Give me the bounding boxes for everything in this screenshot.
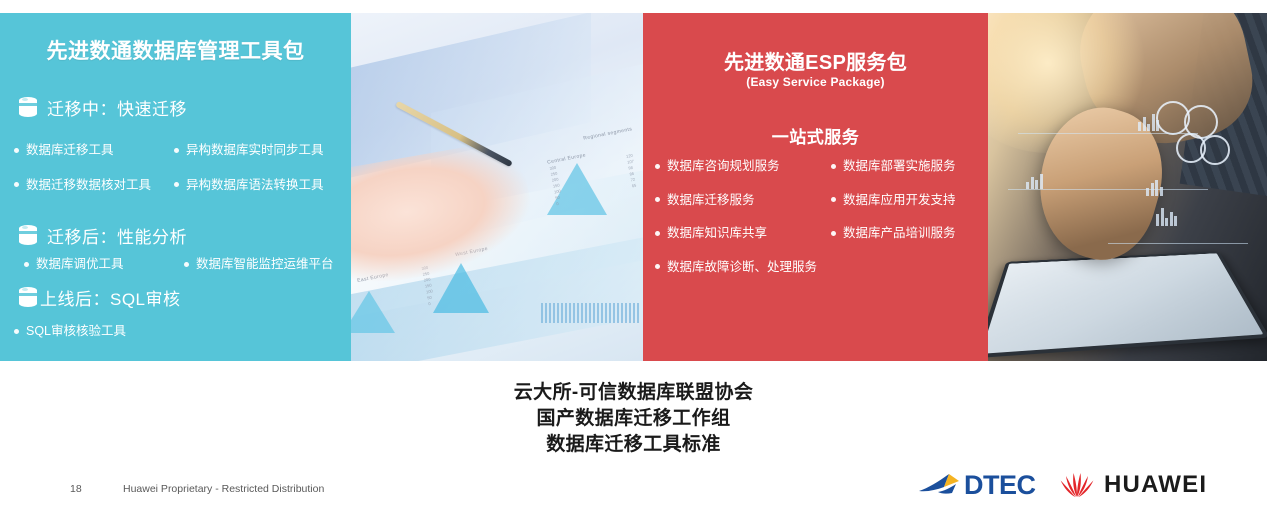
list-item-label: 数据库调优工具 (36, 258, 124, 271)
list-item-label: 异构数据库语法转换工具 (186, 179, 324, 192)
list-item-label: 数据库故障诊断、处理服务 (667, 261, 817, 274)
list-item-label: 数据库迁移服务 (667, 194, 755, 207)
dtec-wordmark: DTEC (964, 472, 1036, 499)
list-item: 数据库故障诊断、处理服务 (655, 261, 817, 274)
database-icon (18, 286, 38, 310)
dtec-logo: DTEC (918, 470, 1036, 500)
cyan-panel-title: 先进数通数据库管理工具包 (0, 35, 351, 65)
list-item-label: 数据库部署实施服务 (843, 160, 956, 173)
list-item: 数据库应用开发支持 (831, 194, 956, 207)
list-item: 数据库部署实施服务 (831, 160, 956, 173)
bullet-dot-icon (831, 164, 836, 169)
tablet-touch-photo (988, 13, 1267, 361)
legal-notice: Huawei Proprietary - Restricted Distribu… (123, 483, 324, 495)
bullet-dot-icon (655, 231, 660, 236)
list-row: 数据库调优工具 数据库智能监控运维平台 (14, 258, 351, 271)
bullet-dot-icon (184, 262, 189, 267)
cyan-section-3-label: 上线后：SQL审核 (40, 285, 181, 310)
dtec-arrow-icon (918, 470, 962, 500)
list-item: 异构数据库语法转换工具 (174, 179, 324, 192)
bottom-title-line-3: 数据库迁移工具标准 (0, 432, 1267, 458)
bullet-dot-icon (174, 148, 179, 153)
cyan-section-2-label: 迁移后：性能分析 (47, 223, 187, 248)
list-item-label: 数据库咨询规划服务 (667, 160, 780, 173)
bullet-dot-icon (174, 182, 179, 187)
cyan-section-1-label: 迁移中：快速迁移 (47, 95, 187, 120)
list-item: 数据迁移数据核对工具 (14, 179, 174, 192)
list-row: 数据迁移数据核对工具 异构数据库语法转换工具 (14, 179, 351, 192)
list-item: 数据库调优工具 (14, 258, 184, 271)
list-item: 数据库迁移服务 (655, 194, 831, 207)
list-item: 数据库智能监控运维平台 (184, 258, 334, 271)
page-number: 18 (70, 483, 82, 495)
bottom-title-line-1: 云大所-可信数据库联盟协会 (0, 380, 1267, 406)
bullet-dot-icon (14, 182, 19, 187)
bullet-dot-icon (14, 329, 19, 334)
cyan-panel: 先进数通数据库管理工具包 迁移中：快速迁移 数据库迁移工具 异构数据库实时 (0, 13, 351, 361)
list-item: 数据库知识库共享 (655, 227, 831, 240)
huawei-logo: HUAWEI (1059, 471, 1207, 499)
red-panel-subtitle: (Easy Service Package) (643, 75, 988, 89)
list-item-label: 数据库产品培训服务 (843, 227, 956, 240)
content-band: 先进数通数据库管理工具包 迁移中：快速迁移 数据库迁移工具 异构数据库实时 (0, 13, 1267, 361)
list-item: 数据库迁移工具 (14, 144, 174, 157)
cyan-section-1-header: 迁移中：快速迁移 (18, 95, 187, 120)
list-item: 数据库咨询规划服务 (655, 160, 831, 173)
list-item: 异构数据库实时同步工具 (174, 144, 324, 157)
list-row: 数据库故障诊断、处理服务 (655, 261, 988, 274)
cyan-section-2-list: 数据库调优工具 数据库智能监控运维平台 (14, 258, 351, 271)
red-panel: 先进数通ESP服务包 (Easy Service Package) 一站式服务 … (643, 13, 988, 361)
list-item-label: SQL审核核验工具 (26, 325, 126, 338)
bullet-dot-icon (655, 164, 660, 169)
list-row: SQL审核核验工具 (14, 325, 351, 338)
list-row: 数据库迁移工具 异构数据库实时同步工具 (14, 144, 351, 157)
database-icon (18, 96, 38, 120)
list-row: 数据库知识库共享 数据库产品培训服务 (655, 227, 988, 240)
list-item-label: 数据库应用开发支持 (843, 194, 956, 207)
list-item-label: 数据库知识库共享 (667, 227, 767, 240)
list-row: 数据库咨询规划服务 数据库部署实施服务 (655, 160, 988, 173)
cyan-section-3-list: SQL审核核验工具 (14, 325, 351, 338)
bullet-dot-icon (831, 231, 836, 236)
list-item-label: 异构数据库实时同步工具 (186, 144, 324, 157)
list-item-label: 数据库迁移工具 (26, 144, 114, 157)
cyan-section-1-list: 数据库迁移工具 异构数据库实时同步工具 数据迁移数据核对工具 异构数据库语法转换… (14, 144, 351, 213)
red-panel-list: 数据库咨询规划服务 数据库部署实施服务 数据库迁移服务 数据库应用开发支持 (655, 160, 988, 294)
cyan-section-2-header: 迁移后：性能分析 (18, 223, 187, 248)
analytics-charts-photo: Regional segments Central Europe West Eu… (351, 13, 643, 361)
slide-canvas: 先进数通数据库管理工具包 迁移中：快速迁移 数据库迁移工具 异构数据库实时 (0, 0, 1267, 510)
red-panel-section-label: 一站式服务 (643, 123, 988, 148)
list-item-label: 数据库智能监控运维平台 (196, 258, 334, 271)
bullet-dot-icon (655, 264, 660, 269)
list-item: 数据库产品培训服务 (831, 227, 956, 240)
cyan-section-3-header: 上线后：SQL审核 (18, 285, 181, 310)
huawei-wordmark: HUAWEI (1104, 473, 1207, 497)
bottom-title-line-2: 国产数据库迁移工作组 (0, 406, 1267, 432)
bullet-dot-icon (14, 148, 19, 153)
huawei-flower-icon (1059, 471, 1095, 499)
bottom-title: 云大所-可信数据库联盟协会 国产数据库迁移工作组 数据库迁移工具标准 (0, 380, 1267, 458)
list-item-label: 数据迁移数据核对工具 (26, 179, 151, 192)
red-panel-title: 先进数通ESP服务包 (643, 46, 988, 75)
bullet-dot-icon (24, 262, 29, 267)
list-row: 数据库迁移服务 数据库应用开发支持 (655, 194, 988, 207)
bullet-dot-icon (831, 197, 836, 202)
database-icon (18, 224, 38, 248)
bullet-dot-icon (655, 197, 660, 202)
list-item: SQL审核核验工具 (14, 325, 126, 338)
